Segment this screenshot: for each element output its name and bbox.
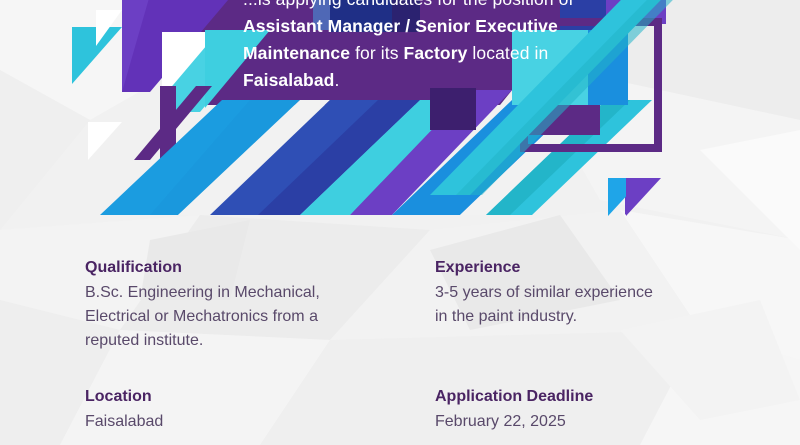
- detail-deadline: Application Deadline February 22, 2025: [435, 384, 785, 434]
- headline-seg-6: .: [334, 70, 339, 90]
- detail-heading-qualification: Qualification: [85, 255, 435, 280]
- detail-body-deadline: February 22, 2025: [435, 410, 785, 434]
- detail-qualification: Qualification B.Sc. Engineering in Mecha…: [85, 255, 435, 353]
- detail-body-qualification: B.Sc. Engineering in Mechanical, Electri…: [85, 281, 435, 353]
- details-row-2: Location Faisalabad Application Deadline…: [0, 384, 800, 434]
- job-posting-poster: ...is applying candidates for the positi…: [0, 0, 800, 445]
- small-violet-triangle: [625, 178, 660, 215]
- headline-text: ...is applying candidates for the positi…: [243, 0, 593, 94]
- white-triangle-lower-left: [88, 122, 122, 160]
- detail-experience: Experience 3-5 years of similar experien…: [435, 255, 785, 353]
- headline-seg-4: located in: [467, 43, 548, 63]
- detail-heading-deadline: Application Deadline: [435, 384, 785, 409]
- headline-seg-5: Faisalabad: [243, 70, 334, 90]
- headline-seg-2: for its: [350, 43, 403, 63]
- detail-heading-location: Location: [85, 384, 435, 409]
- headline-seg-3: Factory: [404, 43, 468, 63]
- detail-heading-experience: Experience: [435, 255, 785, 280]
- detail-body-experience: 3-5 years of similar experience in the p…: [435, 281, 785, 329]
- details-spacer: [0, 353, 800, 384]
- details-section: Qualification B.Sc. Engineering in Mecha…: [0, 255, 800, 434]
- headline-line-clipped: ...is applying candidates for the: [243, 0, 488, 9]
- detail-body-location: Faisalabad: [85, 410, 435, 434]
- detail-location: Location Faisalabad: [85, 384, 435, 434]
- headline-seg-0: position of: [493, 0, 574, 9]
- details-row-1: Qualification B.Sc. Engineering in Mecha…: [0, 255, 800, 353]
